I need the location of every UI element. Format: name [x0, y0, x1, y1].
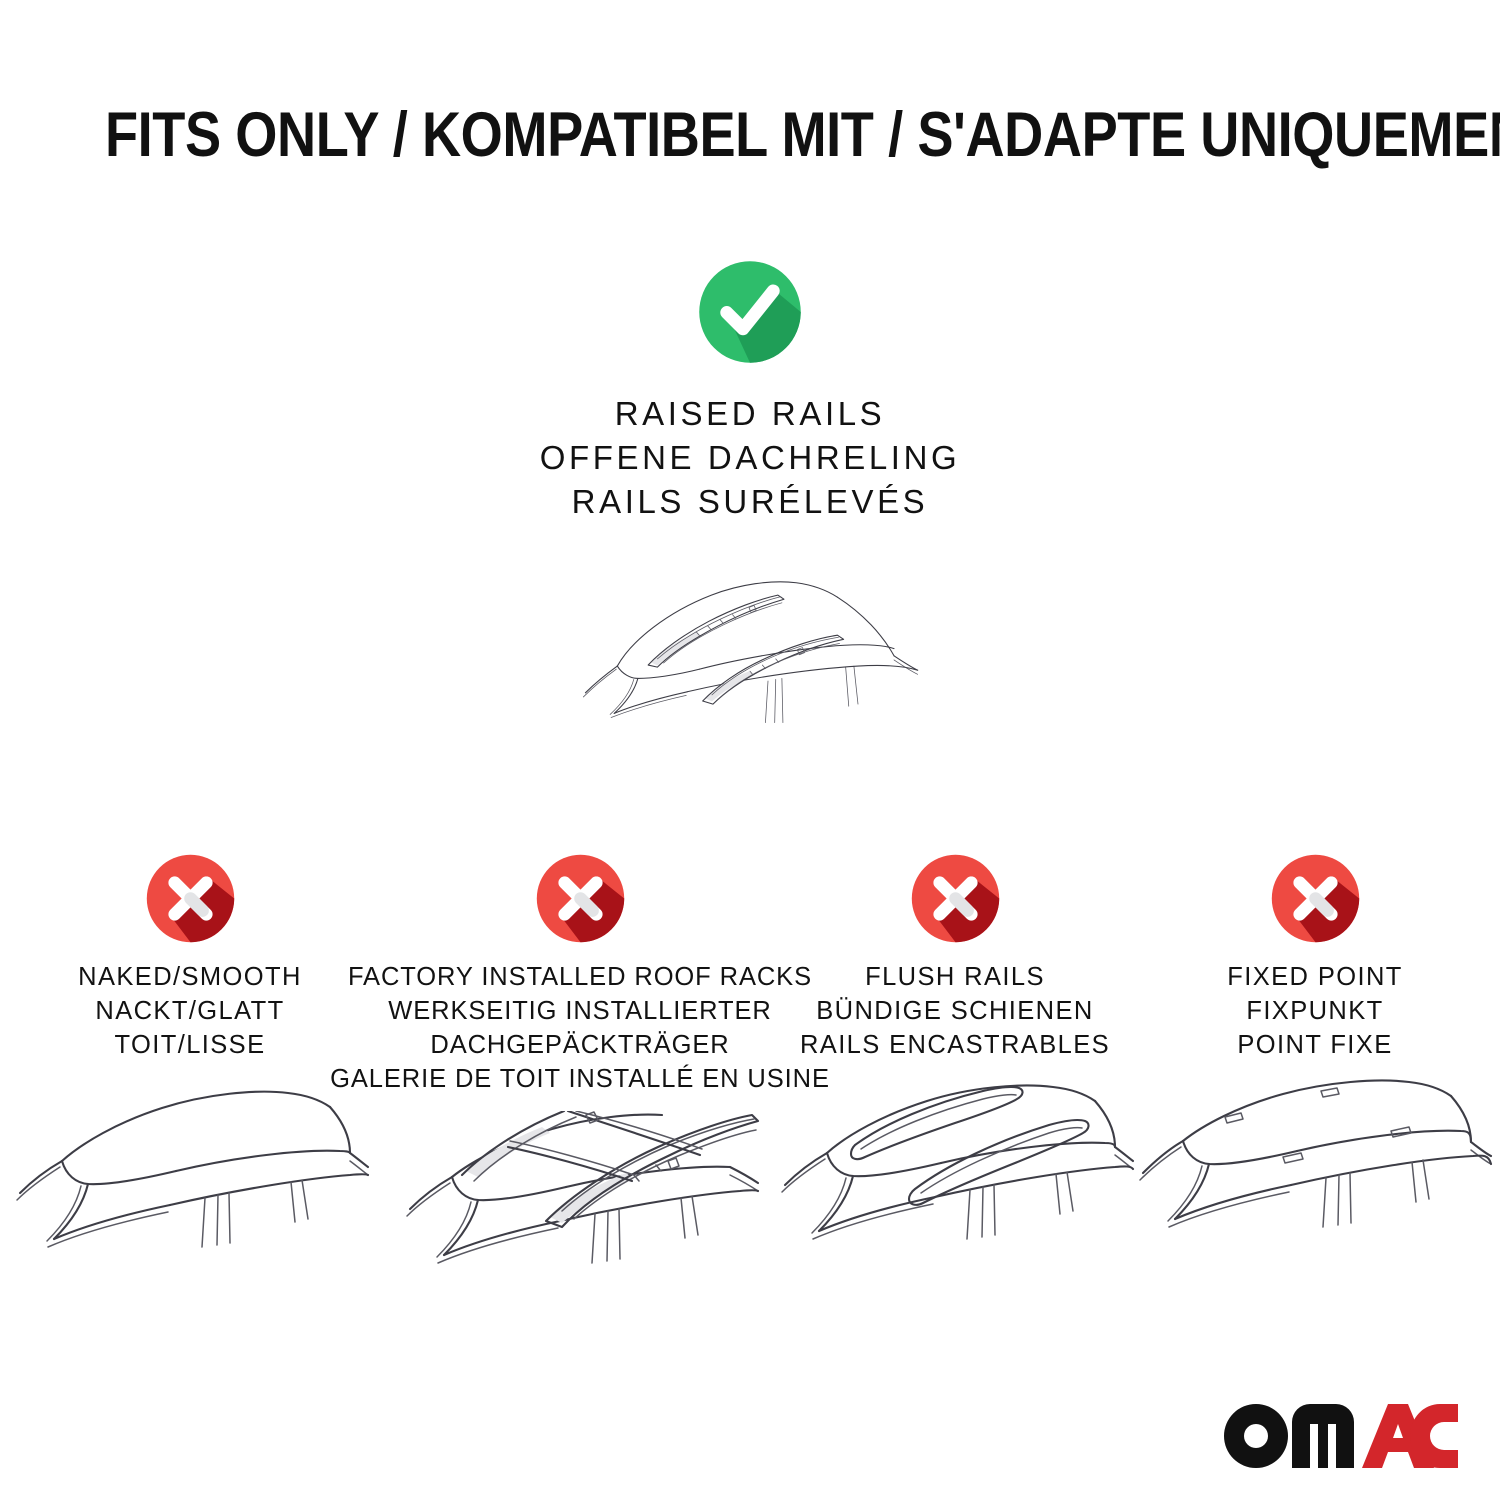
page-header: FITS ONLY / KOMPATIBEL MIT / S'ADAPTE UN…: [0, 104, 1500, 167]
label-line-2: NACKT/GLATT: [78, 995, 302, 1029]
compatible-section: RAISED RAILS OFFENE DACHRELING RAILS SUR…: [0, 258, 1500, 753]
car-roof-fixed-point-illustration: [1135, 1077, 1495, 1292]
incompatible-labels: FLUSH RAILS BÜNDIGE SCHIENEN RAILS ENCAS…: [800, 961, 1110, 1063]
incompatible-item-naked-smooth: NAKED/SMOOTH NACKT/GLATT TOIT/LISSE: [0, 852, 380, 1292]
omac-logo: [1222, 1402, 1458, 1470]
label-line-1: FIXED POINT: [1227, 961, 1403, 995]
label-line-3: DACHGEPÄCKTRÄGER: [330, 1029, 830, 1063]
compatible-label-fr: RAILS SURÉLEVÉS: [540, 480, 961, 524]
car-roof-with-raised-rails-illustration: [570, 538, 930, 753]
label-line-2: FIXPUNKT: [1227, 995, 1403, 1029]
compatible-label-de: OFFENE DACHRELING: [540, 436, 961, 480]
label-line-3: TOIT/LISSE: [78, 1029, 302, 1063]
cross-circle-icon: [1269, 852, 1362, 945]
car-roof-with-factory-crossbars-illustration: [400, 1111, 760, 1326]
check-circle-icon: [696, 258, 804, 366]
incompatible-item-factory-roof-racks: FACTORY INSTALLED ROOF RACKS WERKSEITIG …: [380, 852, 780, 1326]
label-line-2: BÜNDIGE SCHIENEN: [800, 995, 1110, 1029]
incompatible-section: NAKED/SMOOTH NACKT/GLATT TOIT/LISSE: [0, 852, 1500, 1326]
car-roof-with-flush-rails-illustration: [775, 1077, 1135, 1292]
label-line-1: FACTORY INSTALLED ROOF RACKS: [330, 961, 830, 995]
cross-circle-icon: [909, 852, 1002, 945]
compatible-labels: RAISED RAILS OFFENE DACHRELING RAILS SUR…: [540, 392, 961, 524]
cross-circle-icon: [534, 852, 627, 945]
label-line-2: WERKSEITIG INSTALLIERTER: [330, 995, 830, 1029]
label-line-1: NAKED/SMOOTH: [78, 961, 302, 995]
incompatible-labels: FIXED POINT FIXPUNKT POINT FIXE: [1227, 961, 1403, 1063]
incompatible-item-fixed-point: FIXED POINT FIXPUNKT POINT FIXE: [1130, 852, 1500, 1292]
incompatible-labels: FACTORY INSTALLED ROOF RACKS WERKSEITIG …: [330, 961, 830, 1097]
label-line-3: RAILS ENCASTRABLES: [800, 1029, 1110, 1063]
label-line-4: GALERIE DE TOIT INSTALLÉ EN USINE: [330, 1063, 830, 1097]
page-title: FITS ONLY / KOMPATIBEL MIT / S'ADAPTE UN…: [105, 104, 1395, 167]
incompatible-item-flush-rails: FLUSH RAILS BÜNDIGE SCHIENEN RAILS ENCAS…: [780, 852, 1130, 1292]
compatible-label-en: RAISED RAILS: [540, 392, 961, 436]
label-line-1: FLUSH RAILS: [800, 961, 1110, 995]
label-line-3: POINT FIXE: [1227, 1029, 1403, 1063]
incompatible-labels: NAKED/SMOOTH NACKT/GLATT TOIT/LISSE: [78, 961, 302, 1063]
cross-circle-icon: [144, 852, 237, 945]
car-roof-bare-illustration: [10, 1077, 370, 1292]
